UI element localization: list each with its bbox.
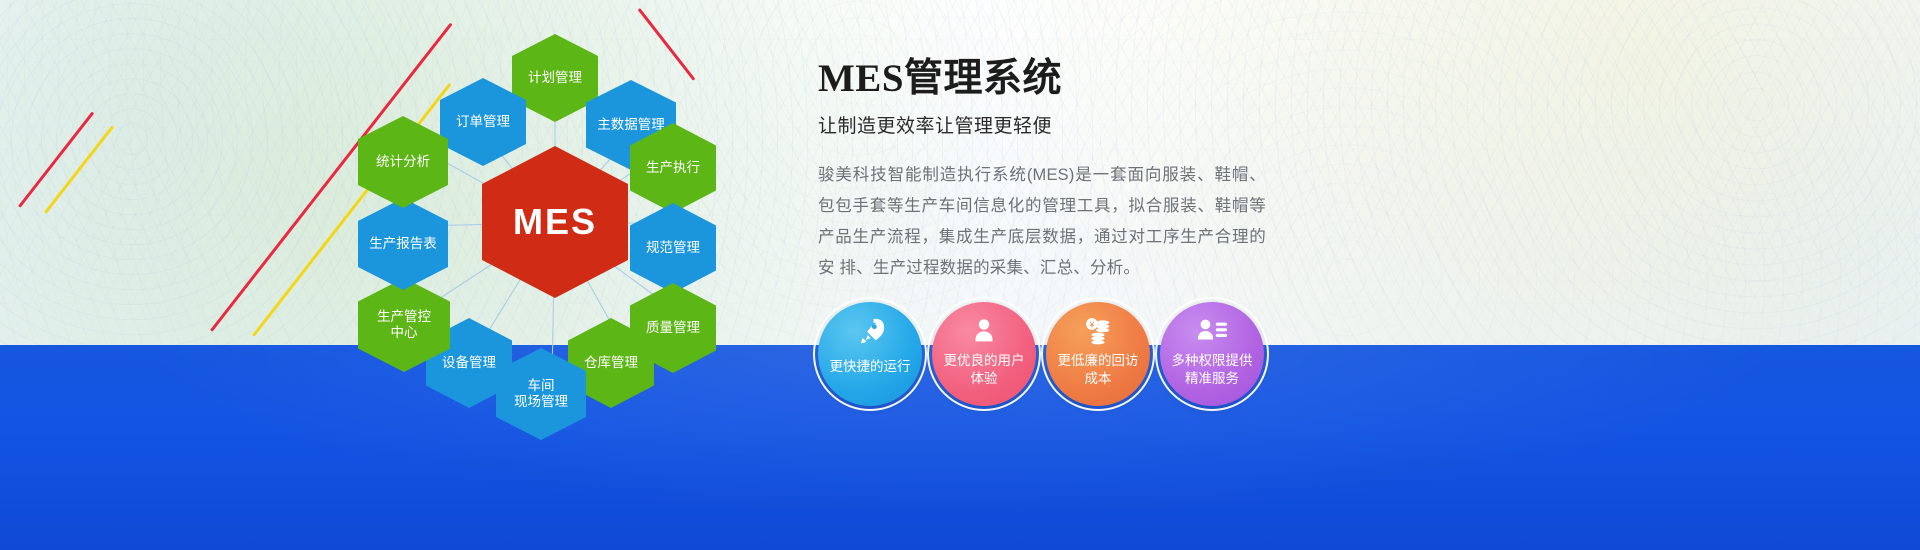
banner-copy: MES管理系统 让制造更效率让管理更轻便 骏美科技智能制造执行系统(MES)是一… bbox=[818, 58, 1288, 284]
description-paragraph: 骏美科技智能制造执行系统(MES)是一套面向服装、鞋帽、包包手套等生产车间信息化… bbox=[818, 160, 1266, 284]
hexagon-core-label: MES bbox=[509, 201, 601, 243]
feature-badge-list: 更快捷的运行 更优良的用户体验 ¥ bbox=[818, 302, 1288, 412]
svg-text:¥: ¥ bbox=[1089, 319, 1095, 329]
feature-badge-3[interactable]: 多种权限提供精准服务 bbox=[1160, 302, 1264, 406]
feature-badge-0[interactable]: 更快捷的运行 bbox=[818, 302, 922, 406]
hexagon-node-label-3: 生产执行 bbox=[642, 160, 704, 176]
feature-badge-1[interactable]: 更优良的用户体验 bbox=[932, 302, 1036, 406]
hexagon-node-label-2: 主数据管理 bbox=[593, 117, 669, 133]
hexagon-node-label-1: 订单管理 bbox=[452, 114, 514, 130]
hexagon-node-label-4: 规范管理 bbox=[642, 240, 704, 256]
badge-label-3: 多种权限提供精准服务 bbox=[1162, 352, 1263, 406]
user-icon bbox=[932, 316, 1036, 346]
banner-stage: MES 计划管理 订单管理 主数据管理 生产执行 规范管理 质量管理 仓库管理 … bbox=[0, 0, 1920, 550]
hexagon-node-label-6: 仓库管理 bbox=[580, 355, 642, 371]
hexagon-node-label-8: 设备管理 bbox=[438, 355, 500, 371]
rocket-icon bbox=[818, 316, 922, 346]
hexagon-node-label-0: 计划管理 bbox=[524, 70, 586, 86]
page-subtitle: 让制造更效率让管理更轻便 bbox=[818, 111, 1288, 138]
badge-label-2: 更低廉的回访成本 bbox=[1048, 352, 1149, 406]
hexagon-node-label-10: 生产报告表 bbox=[365, 236, 441, 252]
page-title: MES管理系统 bbox=[818, 58, 1288, 101]
hexagon-node-label-9: 生产管控中心 bbox=[373, 309, 435, 341]
contacts-icon bbox=[1160, 316, 1264, 346]
badge-label-0: 更快捷的运行 bbox=[820, 358, 921, 406]
money-icon: ¥ bbox=[1046, 316, 1150, 346]
hexagon-node-label-7: 车间现场管理 bbox=[510, 378, 572, 410]
hexagon-node-label-5: 质量管理 bbox=[642, 320, 704, 336]
hexagon-node-label-11: 统计分析 bbox=[372, 154, 434, 170]
feature-badge-2[interactable]: ¥ 更低廉的回访成本 bbox=[1046, 302, 1150, 406]
mes-hexagon-diagram: MES 计划管理 订单管理 主数据管理 生产执行 规范管理 质量管理 仓库管理 … bbox=[330, 18, 770, 438]
badge-label-1: 更优良的用户体验 bbox=[934, 352, 1035, 406]
